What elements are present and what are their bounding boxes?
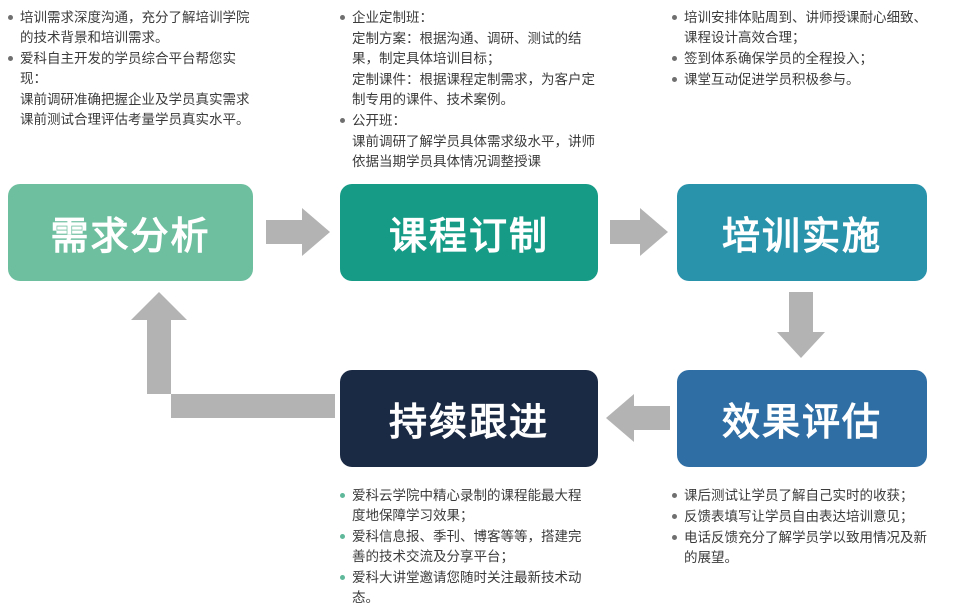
bullet-dot-icon: [340, 493, 345, 498]
bullet-dot-icon: [340, 534, 345, 539]
note-item: 爱科自主开发的学员综合平台帮您实现：: [8, 49, 258, 89]
node-label: 需求分析: [50, 205, 210, 260]
note-text: 定制课件：根据课程定制需求，为客户定制专用的课件、技术案例。: [352, 72, 595, 107]
bullet-dot-icon: [8, 15, 13, 20]
bullet-dot-icon: [672, 56, 677, 61]
note-text: 公开班：: [352, 113, 406, 128]
node-label: 效果评估: [722, 391, 882, 446]
bullet-dot-icon: [340, 118, 345, 123]
note-item: 课前调研了解学员具体需求级水平，讲师依据当期学员具体情况调整授课: [340, 132, 595, 172]
note-item: 爱科云学院中精心录制的课程能最大程度地保障学习效果；: [340, 486, 590, 526]
note-text: 课前调研了解学员具体需求级水平，讲师依据当期学员具体情况调整授课: [352, 134, 595, 169]
note-text: 课后测试让学员了解自己实时的收获；: [684, 488, 914, 503]
note-item: 课堂互动促进学员积极参与。: [672, 70, 927, 90]
note-item: 课前调研准确把握企业及学员真实需求课前测试合理评估考量学员真实水平。: [8, 90, 258, 130]
bullet-dot-icon: [672, 77, 677, 82]
note-text: 爱科云学院中精心录制的课程能最大程度地保障学习效果；: [352, 488, 582, 523]
arrow-course-to-training-icon: [610, 208, 668, 256]
note-demand-analysis: 培训需求深度沟通，充分了解培训学院的技术背景和培训需求。 爱科自主开发的学员综合…: [8, 8, 258, 131]
note-text: 电话反馈充分了解学员学以致用情况及新的展望。: [684, 530, 927, 565]
bullet-dot-icon: [340, 15, 345, 20]
arrow-followup-to-demand-icon: [85, 292, 335, 428]
bullet-dot-icon: [340, 575, 345, 580]
note-continuous-followup: 爱科云学院中精心录制的课程能最大程度地保障学习效果； 爱科信息报、季刊、博客等等…: [340, 486, 590, 609]
note-item: 爱科大讲堂邀请您随时关注最新技术动态。: [340, 568, 590, 608]
note-text: 反馈表填写让学员自由表达培训意见；: [684, 509, 914, 524]
note-item: 签到体系确保学员的全程投入；: [672, 49, 927, 69]
arrow-training-to-evaluation-icon: [777, 292, 825, 358]
note-text: 课堂互动促进学员积极参与。: [684, 72, 860, 87]
note-text: 爱科大讲堂邀请您随时关注最新技术动态。: [352, 570, 582, 605]
node-label: 培训实施: [722, 205, 882, 260]
note-text: 签到体系确保学员的全程投入；: [684, 51, 873, 66]
note-text: 爱科信息报、季刊、博客等等，搭建完善的技术交流及分享平台；: [352, 529, 582, 564]
arrow-evaluation-to-followup-icon: [606, 394, 670, 442]
bullet-dot-icon: [8, 56, 13, 61]
bullet-dot-icon: [672, 493, 677, 498]
note-course-customization: 企业定制班： 定制方案：根据沟通、调研、测试的结果，制定具体培训目标； 定制课件…: [340, 8, 595, 173]
node-training-implementation[interactable]: 培训实施: [677, 184, 927, 281]
note-item: 电话反馈充分了解学员学以致用情况及新的展望。: [672, 528, 927, 568]
note-text: 培训需求深度沟通，充分了解培训学院的技术背景和培训需求。: [20, 10, 250, 45]
node-effect-evaluation[interactable]: 效果评估: [677, 370, 927, 467]
note-item: 爱科信息报、季刊、博客等等，搭建完善的技术交流及分享平台；: [340, 527, 590, 567]
bullet-dot-icon: [672, 535, 677, 540]
note-text: 培训安排体贴周到、讲师授课耐心细致、课程设计高效合理；: [684, 10, 927, 45]
note-item: 培训安排体贴周到、讲师授课耐心细致、课程设计高效合理；: [672, 8, 927, 48]
note-item: 反馈表填写让学员自由表达培训意见；: [672, 507, 927, 527]
note-item: 公开班：: [340, 111, 595, 131]
note-effect-evaluation: 课后测试让学员了解自己实时的收获； 反馈表填写让学员自由表达培训意见； 电话反馈…: [672, 486, 927, 569]
note-item: 培训需求深度沟通，充分了解培训学院的技术背景和培训需求。: [8, 8, 258, 48]
node-demand-analysis[interactable]: 需求分析: [8, 184, 253, 281]
node-label: 持续跟进: [389, 391, 549, 446]
node-label: 课程订制: [389, 205, 549, 260]
node-continuous-followup[interactable]: 持续跟进: [340, 370, 598, 467]
note-item: 企业定制班：: [340, 8, 595, 28]
note-text: 课前调研准确把握企业及学员真实需求课前测试合理评估考量学员真实水平。: [20, 92, 250, 127]
note-item: 定制课件：根据课程定制需求，为客户定制专用的课件、技术案例。: [340, 70, 595, 110]
note-text: 爱科自主开发的学员综合平台帮您实现：: [20, 51, 236, 86]
note-training-implementation: 培训安排体贴周到、讲师授课耐心细致、课程设计高效合理； 签到体系确保学员的全程投…: [672, 8, 927, 91]
note-text: 定制方案：根据沟通、调研、测试的结果，制定具体培训目标；: [352, 31, 582, 66]
arrow-demand-to-course-icon: [266, 208, 330, 256]
note-item: 定制方案：根据沟通、调研、测试的结果，制定具体培训目标；: [340, 29, 595, 69]
bullet-dot-icon: [672, 15, 677, 20]
note-item: 课后测试让学员了解自己实时的收获；: [672, 486, 927, 506]
bullet-dot-icon: [672, 514, 677, 519]
node-course-customization[interactable]: 课程订制: [340, 184, 598, 281]
flow-diagram-canvas: 培训需求深度沟通，充分了解培训学院的技术背景和培训需求。 爱科自主开发的学员综合…: [0, 0, 960, 610]
note-text: 企业定制班：: [352, 10, 433, 25]
